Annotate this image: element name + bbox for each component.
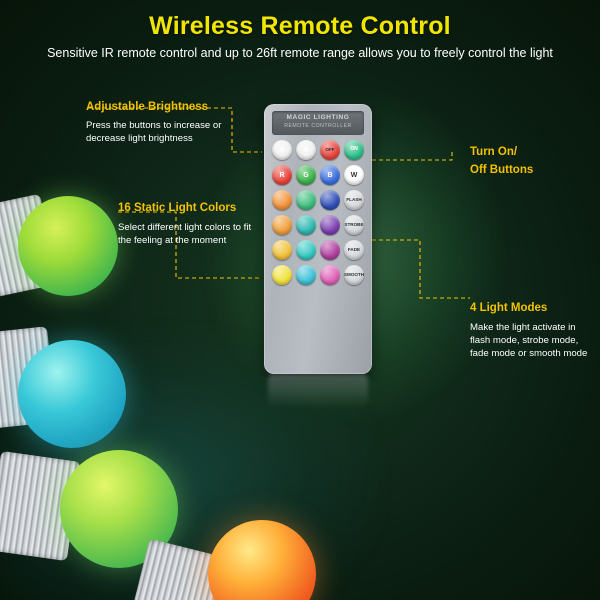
remote-control[interactable]: MAGIC LIGHTING REMOTE CONTROLLER ※※OFFON… [264,104,372,374]
annotation-power-heading2: Off Buttons [470,164,533,176]
annotation-colors-body: Select different light colors to fit the… [118,222,266,248]
mode-smooth-button[interactable]: SMOOTH [344,265,364,285]
color-yellow-button[interactable] [272,265,292,285]
remote-brand-line1: MAGIC LIGHTING [272,114,364,121]
color-light-blue-button[interactable] [296,265,316,285]
remote-key-row: FADE [272,240,364,260]
brightness-down-button[interactable]: ※ [296,140,316,160]
bulb-green [18,196,118,296]
annotation-colors-heading: 16 Static Light Colors [118,202,236,214]
bulb-cyan [18,340,126,448]
remote-reflection [268,374,368,408]
color-magenta-button[interactable] [320,240,340,260]
mode-fade-button[interactable]: FADE [344,240,364,260]
power-off-button[interactable]: OFF [320,140,340,160]
color-dark-blue-button[interactable] [320,190,340,210]
remote-brand-line2: REMOTE CONTROLLER [272,123,364,129]
remote-key-row: SMOOTH [272,265,364,285]
remote-key-row: ※※OFFON [272,140,364,160]
color-red-button[interactable]: R [272,165,292,185]
remote-branding-panel: MAGIC LIGHTING REMOTE CONTROLLER [272,111,364,135]
annotation-modes-heading: 4 Light Modes [470,302,547,314]
annotation-power-heading: Turn On/ [470,146,517,158]
color-yellow-orange-button[interactable] [272,240,292,260]
color-blue-button[interactable]: B [320,165,340,185]
bulb-orange [208,520,316,600]
color-amber-button[interactable] [272,215,292,235]
color-pink-button[interactable] [320,265,340,285]
page-subtitle: Sensitive IR remote control and up to 26… [0,46,600,60]
color-teal-green-button[interactable] [296,190,316,210]
color-orange-button[interactable] [272,190,292,210]
color-cyan-button[interactable] [296,215,316,235]
mode-strobe-button[interactable]: STROBE [344,215,364,235]
brightness-up-button[interactable]: ※ [272,140,292,160]
annotation-modes-body: Make the light activate in flash mode, s… [470,322,596,361]
remote-keypad: ※※OFFONRGBWFLASHSTROBEFADESMOOTH [272,140,364,290]
power-on-button[interactable]: ON [344,140,364,160]
remote-key-row: STROBE [272,215,364,235]
annotation-brightness-body: Press the buttons to increase or decreas… [86,120,236,146]
annotation-brightness-heading: Adjustable Brightness [86,101,208,113]
remote-key-row: FLASH [272,190,364,210]
infographic-canvas: Wireless Remote Control Sensitive IR rem… [0,0,600,600]
color-purple-button[interactable] [320,215,340,235]
page-title: Wireless Remote Control [0,12,600,41]
color-turquoise-button[interactable] [296,240,316,260]
color-white-button[interactable]: W [344,165,364,185]
color-green-button[interactable]: G [296,165,316,185]
remote-key-row: RGBW [272,165,364,185]
mode-flash-button[interactable]: FLASH [344,190,364,210]
